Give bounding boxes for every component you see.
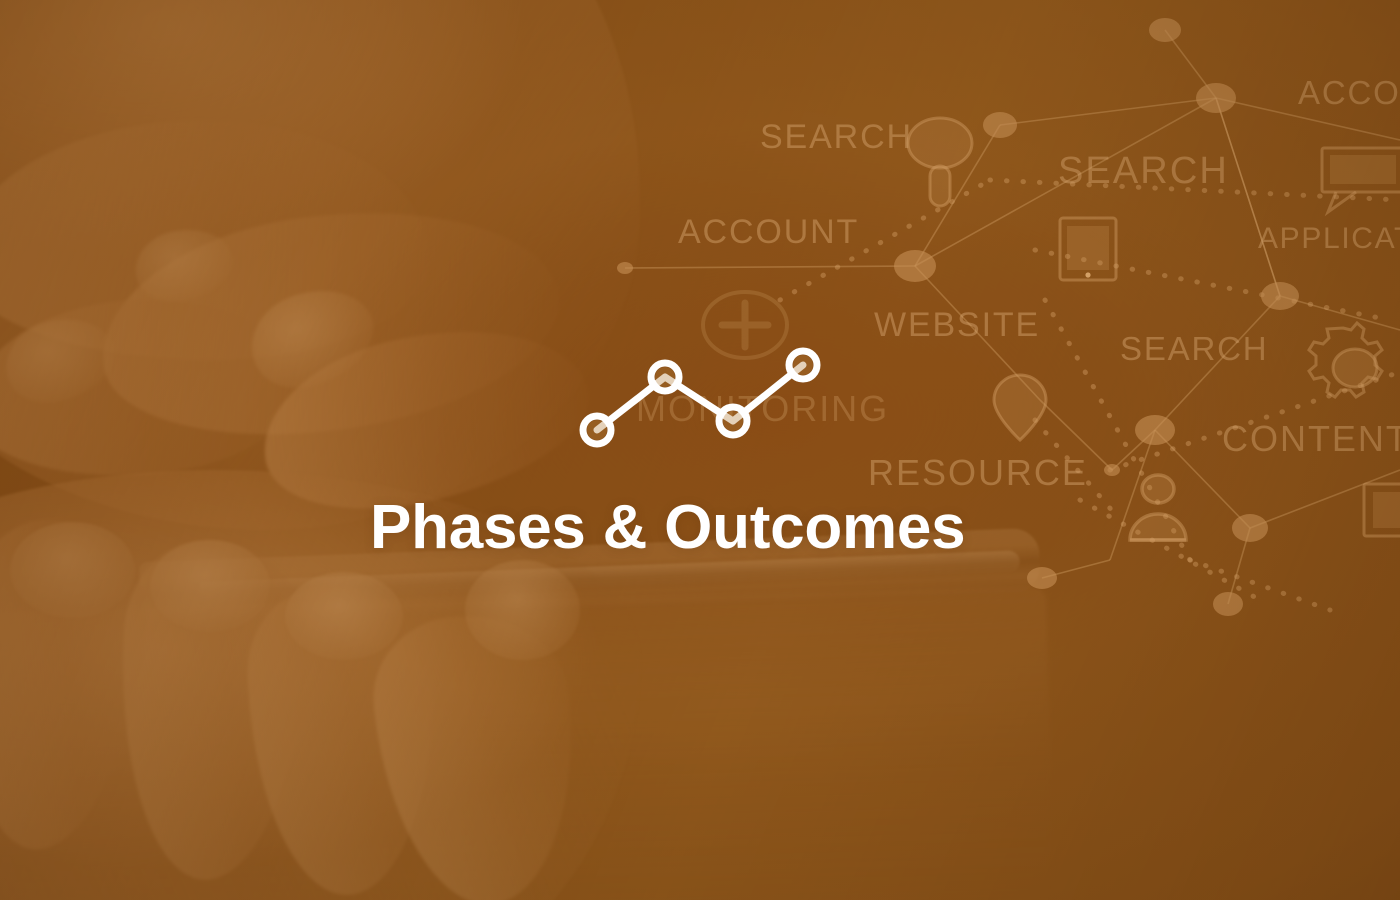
hero-banner: SEARCH ACCOUNT ACCOUNT SEARCH APPLICATIO…: [0, 0, 1400, 900]
chat-bubble-icon: [1322, 148, 1400, 212]
keyword-label: SEARCH: [760, 118, 913, 157]
keyword-label: APPLICATION: [1258, 222, 1400, 256]
keyword-label: ACCOUNT: [1298, 74, 1400, 112]
page-title: Phases & Outcomes: [370, 495, 1370, 562]
gear-icon: [1309, 323, 1382, 397]
keyword-label: CONTENT: [1222, 418, 1400, 460]
location-pin-icon: [994, 375, 1046, 440]
keyword-label: ACCOUNT: [678, 213, 859, 252]
analytics-line-chart-icon: [560, 330, 840, 460]
keyword-label: RESOURCE: [868, 452, 1088, 494]
keyword-label: WEBSITE: [874, 306, 1040, 345]
magnifier-icon: [908, 118, 972, 206]
keyword-label: SEARCH: [1058, 150, 1229, 193]
tablet-icon: [1060, 218, 1116, 280]
keyword-label: SEARCH: [1120, 330, 1268, 368]
